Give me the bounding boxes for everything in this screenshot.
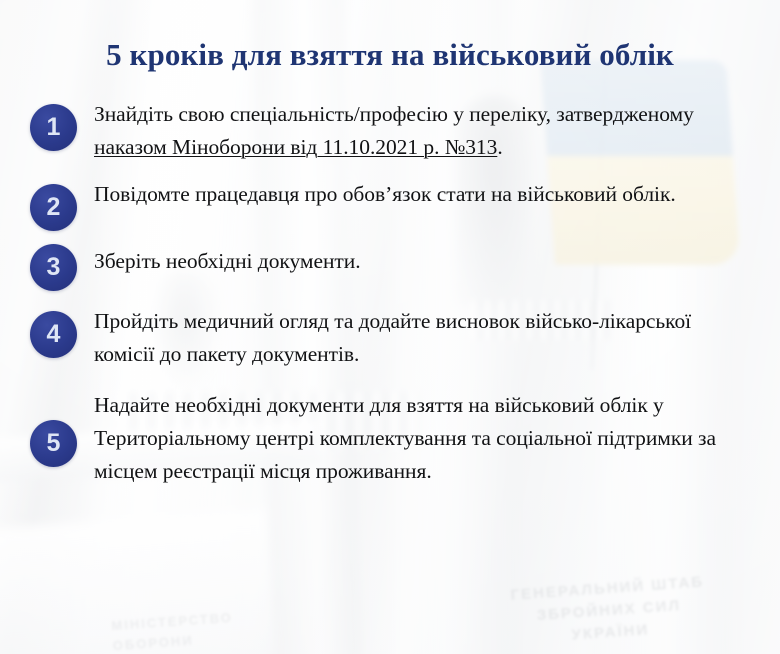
- list-item: 5 Надайте необхідні документи для взяття…: [30, 389, 746, 488]
- poster-content: 5 кроків для взяття на військовий облік …: [0, 0, 780, 654]
- step-number-badge: 5: [30, 420, 77, 467]
- step-number-badge: 1: [30, 104, 77, 151]
- order-link[interactable]: наказом Міноборони від 11.10.2021 р. №31…: [94, 135, 497, 159]
- step-text: Зберіть необхідні документи.: [77, 245, 746, 278]
- step-number-badge: 4: [30, 311, 77, 358]
- step-text: Пройдіть медичний огляд та додайте висно…: [77, 305, 746, 371]
- infographic-poster: ГЕНЕРАЛЬНИЙ ШТАБ ЗБРОЙНИХ СИЛ УКРАЇНИ МІ…: [0, 0, 780, 654]
- step-number-badge: 3: [30, 244, 77, 291]
- step-number-badge: 2: [30, 184, 77, 231]
- list-item: 1 Знайдіть свою спеціальність/професію у…: [30, 98, 746, 164]
- steps-list: 1 Знайдіть свою спеціальність/професію у…: [0, 76, 780, 488]
- list-item: 2 Повідомте працедавця про обов’язок ста…: [30, 178, 746, 231]
- step-text: Знайдіть свою спеціальність/професію у п…: [77, 98, 746, 164]
- step-text-tail: .: [497, 135, 502, 159]
- list-item: 3 Зберіть необхідні документи.: [30, 245, 746, 291]
- list-item: 4 Пройдіть медичний огляд та додайте вис…: [30, 305, 746, 371]
- step-text: Надайте необхідні документи для взяття н…: [77, 389, 746, 488]
- step-text-lead: Знайдіть свою спеціальність/професію у п…: [94, 102, 694, 126]
- page-title: 5 кроків для взяття на військовий облік: [0, 0, 780, 76]
- step-text: Повідомте працедавця про обов’язок стати…: [77, 178, 746, 211]
